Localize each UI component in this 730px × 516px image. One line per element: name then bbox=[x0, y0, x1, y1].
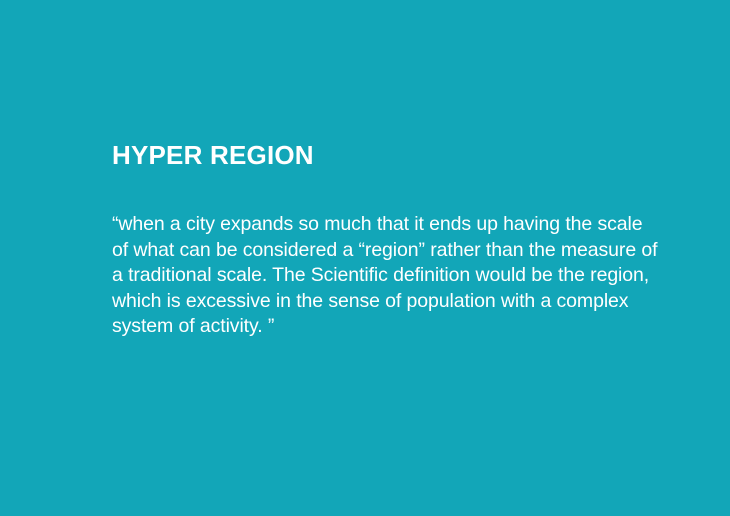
quote-line: which is excessive in the sense of popul… bbox=[112, 289, 604, 315]
quote-line: a traditional scale. The Scientific defi… bbox=[112, 263, 604, 289]
content-block: HYPER REGION “when a city expands so muc… bbox=[112, 140, 612, 340]
quote-line: system of activity. ” bbox=[112, 314, 604, 340]
page-title: HYPER REGION bbox=[112, 140, 612, 170]
slide-canvas: HYPER REGION “when a city expands so muc… bbox=[0, 0, 730, 516]
quote-line: of what can be considered a “region” rat… bbox=[112, 238, 604, 264]
quote-text: “when a city expands so much that it end… bbox=[112, 212, 604, 340]
quote-line: “when a city expands so much that it end… bbox=[112, 212, 604, 238]
